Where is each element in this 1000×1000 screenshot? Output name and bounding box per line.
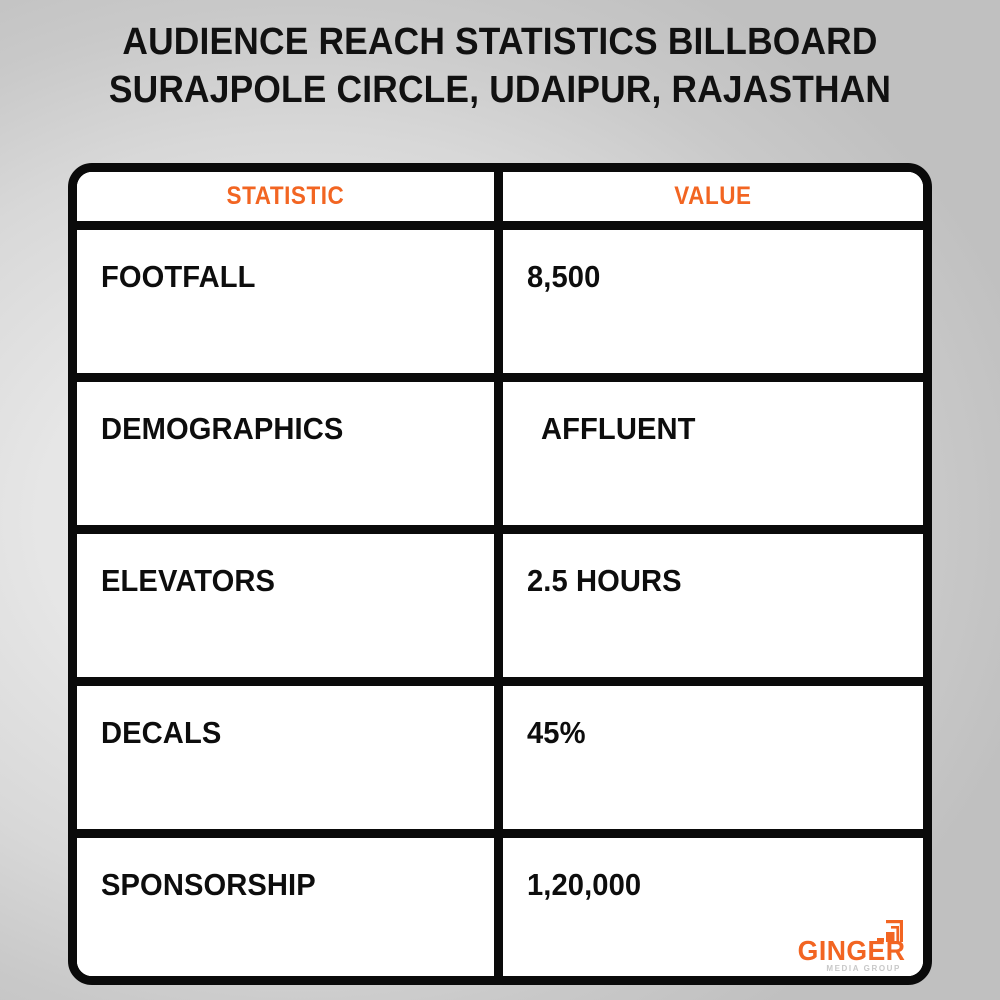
table-header-cell-value: VALUE (503, 172, 923, 221)
statistic-label: ELEVATORS (101, 564, 275, 598)
table-cell-value: 2.5 HOURS (503, 534, 923, 677)
table-cell-statistic: FOOTFALL (77, 230, 503, 373)
statistic-value: AFFLUENT (541, 412, 696, 446)
poster-canvas: AUDIENCE REACH STATISTICS BILLBOARD SURA… (0, 0, 1000, 1000)
brand-logo-tagline: MEDIA GROUP (826, 964, 901, 973)
brand-logo-name: GINGER (797, 936, 905, 966)
table-cell-value: AFFLUENT (503, 382, 923, 525)
statistic-label: DECALS (101, 716, 221, 750)
table-row: ELEVATORS 2.5 HOURS (77, 534, 923, 686)
table-header-cell-statistic: STATISTIC (77, 172, 503, 221)
table-cell-value: 1,20,000 GINGER MEDIA GROUP (503, 838, 923, 985)
table-header-row: STATISTIC VALUE (77, 172, 923, 230)
column-header-statistic: STATISTIC (227, 182, 345, 211)
table-cell-statistic: DEMOGRAPHICS (77, 382, 503, 525)
table-cell-value: 8,500 (503, 230, 923, 373)
column-header-value: VALUE (674, 182, 751, 211)
statistics-table: STATISTIC VALUE FOOTFALL 8,500 DEMOGRAPH… (68, 163, 932, 985)
statistic-value: 1,20,000 (527, 868, 641, 902)
statistic-label: FOOTFALL (101, 260, 256, 294)
page-title-line-1: AUDIENCE REACH STATISTICS BILLBOARD (35, 18, 965, 66)
table-cell-statistic: ELEVATORS (77, 534, 503, 677)
table-cell-statistic: SPONSORSHIP (77, 838, 503, 985)
statistic-value: 8,500 (527, 260, 600, 294)
statistic-value: 45% (527, 716, 586, 750)
brand-logo: GINGER MEDIA GROUP (773, 920, 905, 978)
table-cell-value: 45% (503, 686, 923, 829)
table-cell-statistic: DECALS (77, 686, 503, 829)
statistic-value: 2.5 HOURS (527, 564, 682, 598)
table-row: SPONSORSHIP 1,20,000 (77, 838, 923, 985)
statistic-label: DEMOGRAPHICS (101, 412, 343, 446)
page-title-line-2: SURAJPOLE CIRCLE, UDAIPUR, RAJASTHAN (35, 66, 965, 114)
table-row: DECALS 45% (77, 686, 923, 838)
table-row: FOOTFALL 8,500 (77, 230, 923, 382)
statistic-label: SPONSORSHIP (101, 868, 316, 902)
page-title: AUDIENCE REACH STATISTICS BILLBOARD SURA… (0, 18, 1000, 114)
table-row: DEMOGRAPHICS AFFLUENT (77, 382, 923, 534)
